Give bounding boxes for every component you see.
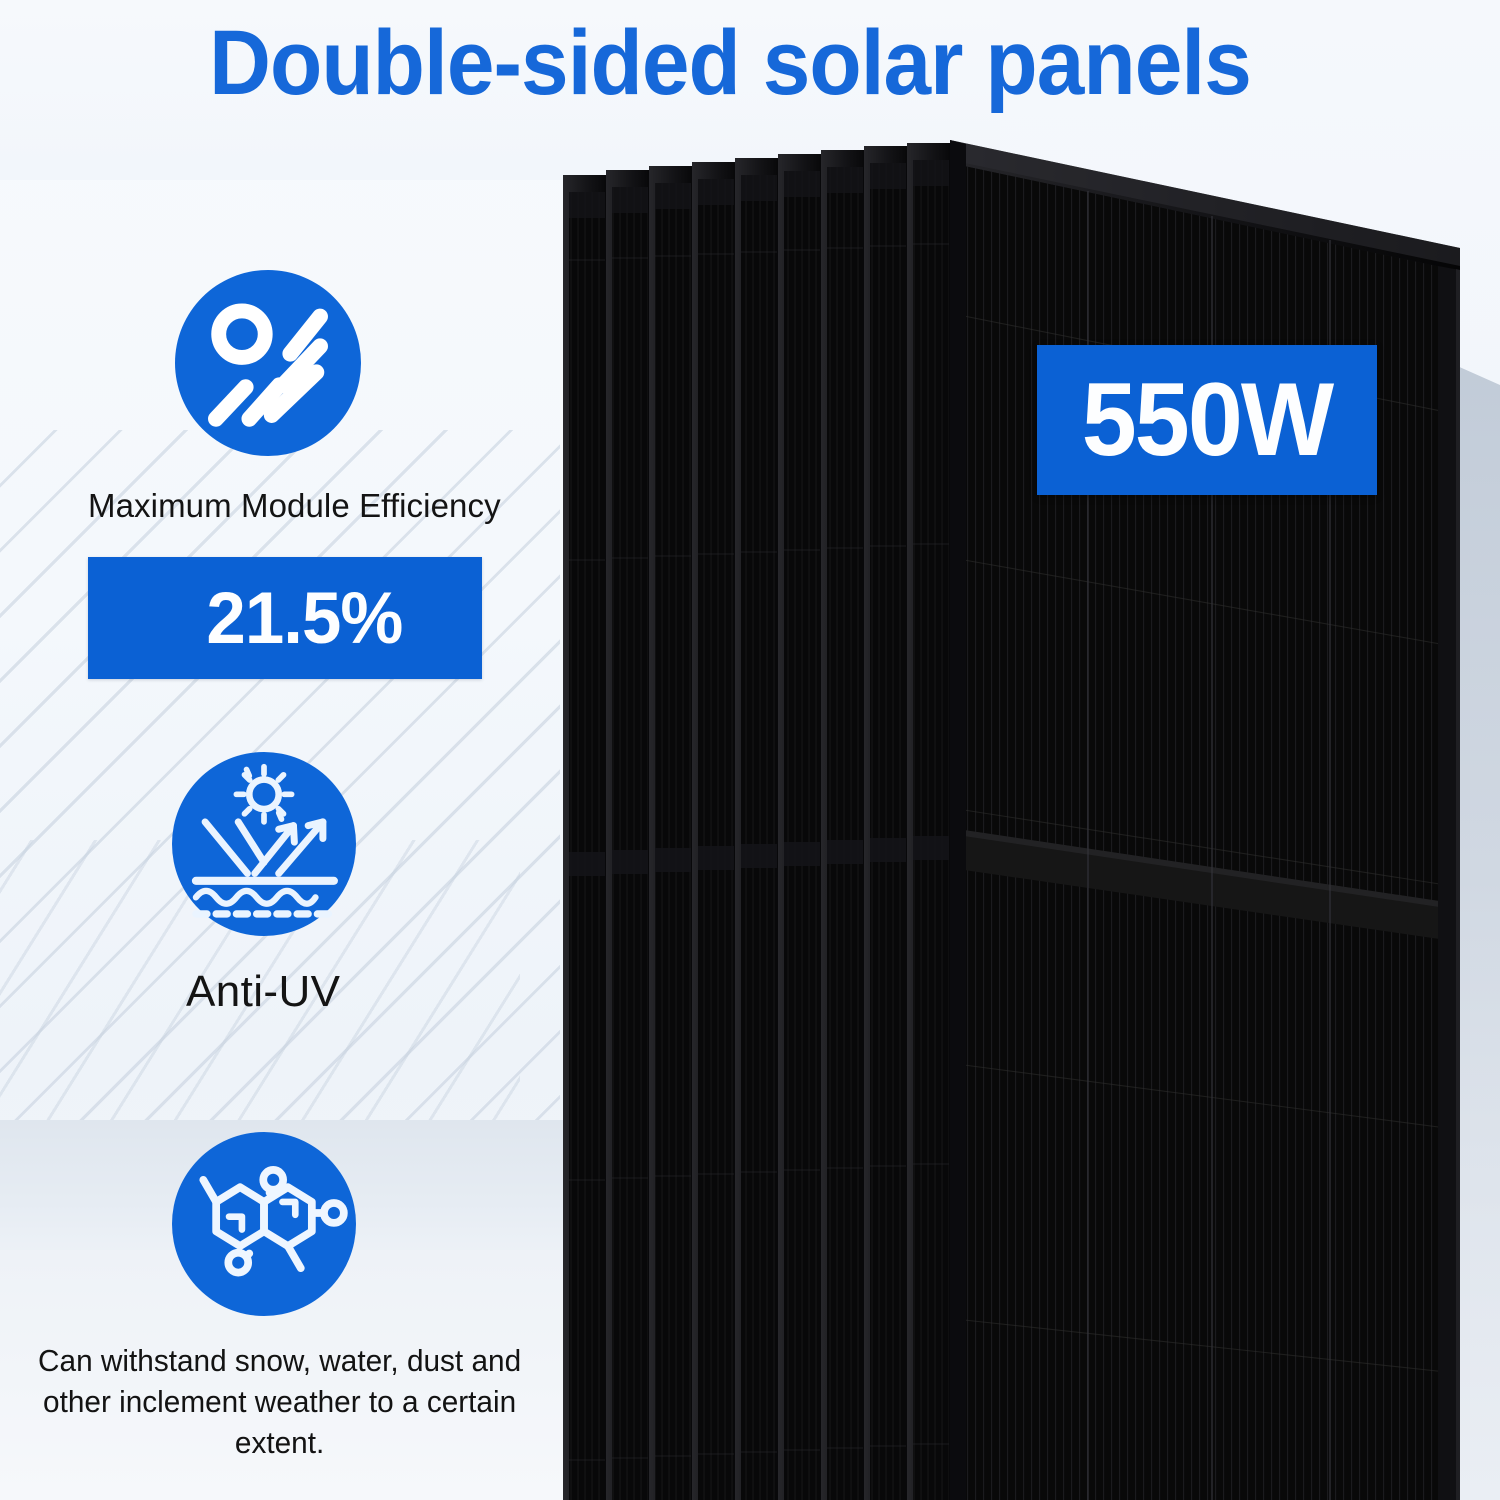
sun-rays-icon (175, 270, 361, 456)
front-solar-panel (950, 140, 1460, 1500)
anti-uv-label: Anti-UV (186, 967, 340, 1017)
weather-resistance-caption: Can withstand snow, water, dust and othe… (18, 1341, 541, 1464)
sun-rays-glyph (175, 270, 361, 456)
molecule-glyph (172, 1132, 356, 1316)
efficiency-label: Maximum Module Efficiency (88, 487, 501, 525)
stacked-panel-edges (563, 143, 955, 1500)
power-rating-badge: 550W (1037, 345, 1377, 495)
efficiency-value-badge: 21.5% (88, 557, 482, 679)
molecule-icon (172, 1132, 356, 1316)
solar-panel-illustration (540, 140, 1500, 1500)
product-infographic: Double-sided solar panels (0, 0, 1500, 1500)
power-rating-value: 550W (1046, 361, 1369, 480)
efficiency-value: 21.5% (94, 577, 476, 660)
page-title: Double-sided solar panels (51, 14, 1409, 113)
uv-reflection-icon (172, 752, 356, 936)
uv-reflection-glyph (172, 752, 356, 936)
solar-panel-stack-image (540, 140, 1500, 1500)
